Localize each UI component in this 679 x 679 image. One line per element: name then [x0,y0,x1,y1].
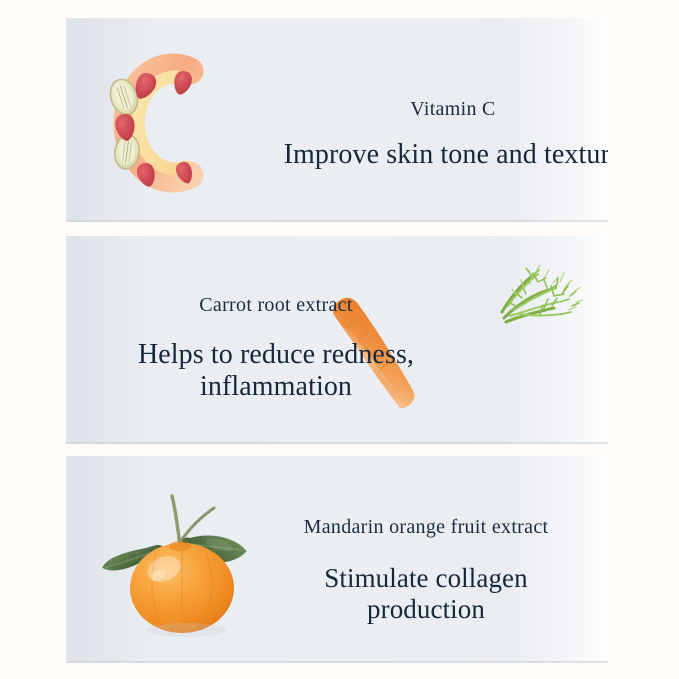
ingredient-panel-mandarin-orange-fruit-extract: Mandarin orange fruit extract Stimulate … [66,456,608,663]
ingredient-benefits-page: Vitamin C Improve skin tone and texture … [0,0,679,679]
ingredient-benefit-carrot-l1: Helps to reduce redness, [86,339,466,371]
panel-2-text-block: Carrot root extract Helps to reduce redn… [86,294,466,403]
ingredient-name-carrot: Carrot root extract [86,294,466,317]
panel-3-text-block: Mandarin orange fruit extract Stimulate … [246,516,606,625]
ingredient-benefit-mandarin-l2: production [246,594,606,625]
ingredient-name-mandarin: Mandarin orange fruit extract [246,516,606,539]
ingredient-benefit-carrot-l2: inflammation [86,371,466,403]
ingredient-panel-vitamin-c: Vitamin C Improve skin tone and texture [66,18,608,222]
ingredient-benefit-vitamin-c: Improve skin tone and texture [238,139,608,171]
ingredient-name-vitamin-c: Vitamin C [238,98,608,121]
panel-1-text-block: Vitamin C Improve skin tone and texture [238,98,608,171]
letter-c-fruit-icon [98,49,210,197]
ingredient-panel-carrot-root-extract: Carrot root extract Helps to reduce redn… [66,236,608,444]
ingredient-benefit-mandarin-l1: Stimulate collagen [246,563,606,594]
